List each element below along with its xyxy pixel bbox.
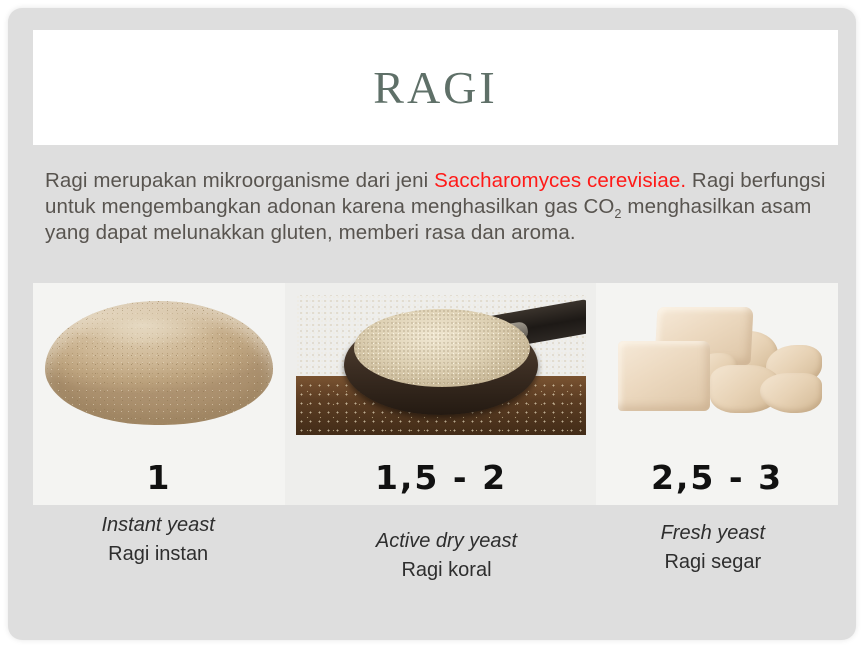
instant-yeast-powder-image: [45, 301, 273, 431]
active-dry-yeast-spoon-image: [296, 295, 586, 435]
quantity-label-active-dry: 1,5 - 2: [296, 458, 586, 497]
caption-row: Instant yeast Ragi instan Active dry yea…: [33, 511, 838, 591]
caption-instant-yeast: Instant yeast Ragi instan: [33, 511, 321, 591]
caption-english-instant: Instant yeast: [33, 511, 283, 540]
fresh-yeast-blocks-image: [610, 301, 824, 433]
body-text-part-1: Ragi merupakan mikroorganisme dari jeni: [45, 169, 434, 192]
caption-indonesian-fresh: Ragi segar: [588, 548, 838, 577]
photo-cell-active-dry-yeast: 1,5 - 2: [296, 283, 586, 505]
caption-english-fresh: Fresh yeast: [588, 519, 838, 548]
body-paragraph: Ragi merupakan mikroorganisme dari jeni …: [45, 168, 845, 246]
quantity-label-instant: 1: [33, 458, 285, 497]
page-title: RAGI: [373, 65, 497, 111]
photo-cell-fresh-yeast: 2,5 - 3: [596, 283, 838, 505]
powder-highlight: [75, 307, 225, 347]
title-box: RAGI: [33, 30, 838, 145]
species-name-highlight: Saccharomyces cerevisiae.: [434, 169, 686, 192]
granule-texture: [354, 309, 530, 387]
caption-english-active-dry: Active dry yeast: [321, 527, 571, 556]
caption-indonesian-instant: Ragi instan: [33, 540, 283, 569]
co2-subscript: 2: [614, 206, 621, 221]
powder-mound-shape: [45, 301, 273, 425]
quantity-label-fresh: 2,5 - 3: [596, 458, 838, 497]
photo-cell-instant-yeast: 1: [33, 283, 285, 505]
caption-indonesian-active-dry: Ragi koral: [321, 556, 571, 585]
caption-fresh-yeast: Fresh yeast Ragi segar: [572, 519, 838, 599]
yeast-granule-heap: [354, 309, 530, 387]
yeast-photo-panel: 1 1,5 - 2: [33, 283, 838, 505]
yeast-block-front: [618, 341, 710, 411]
caption-active-dry-yeast: Active dry yeast Ragi koral: [321, 527, 571, 607]
slide: RAGI Ragi merupakan mikroorganisme dari …: [8, 8, 856, 640]
